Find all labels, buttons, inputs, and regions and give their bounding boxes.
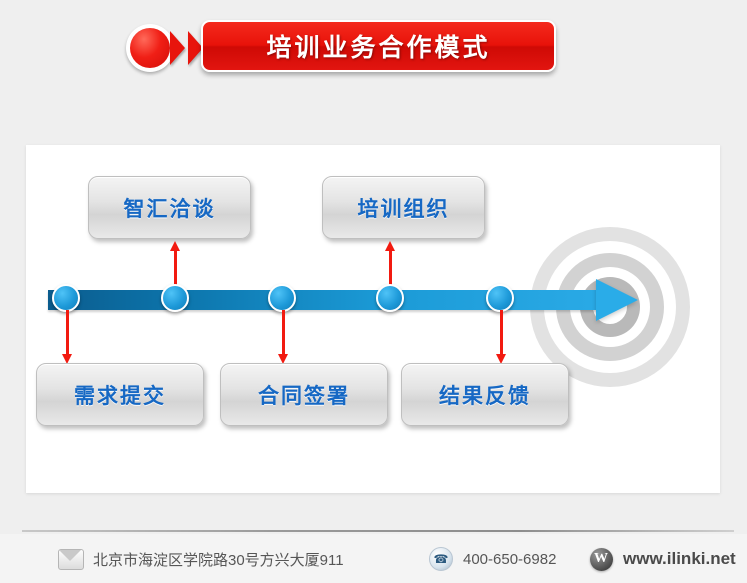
- timeline-node-1[interactable]: [52, 284, 80, 312]
- timeline-node-2[interactable]: [161, 284, 189, 312]
- footer-address-text: 北京市海淀区学院路30号方兴大厦911: [93, 549, 344, 570]
- page-title: 培训业务合作模式: [266, 28, 490, 64]
- slide-title-banner: 培训业务合作模式: [0, 0, 747, 100]
- footer-website-text: www.ilinki.net: [623, 549, 736, 569]
- title-plate: 培训业务合作模式: [201, 20, 556, 72]
- stage-box-top-2[interactable]: 培训组织: [322, 176, 485, 239]
- footer-bar: 北京市海淀区学院路30号方兴大厦911 ☎ 400-650-6982 W www…: [0, 534, 747, 583]
- connector-arrow-down-1: [66, 310, 69, 355]
- globe-icon-glyph: W: [590, 548, 613, 571]
- stage-label: 结果反馈: [439, 380, 531, 410]
- content-panel: 智汇洽谈 培训组织 需求提交 合同签署 结果反馈: [26, 145, 720, 493]
- timeline-node-4[interactable]: [376, 284, 404, 312]
- timeline-node-3[interactable]: [268, 284, 296, 312]
- stage-label: 需求提交: [74, 380, 166, 410]
- connector-arrow-down-3: [500, 310, 503, 355]
- process-timeline: [48, 288, 638, 312]
- envelope-icon: [58, 546, 84, 572]
- footer-phone: ☎ 400-650-6982: [428, 546, 556, 572]
- red-circle-icon: [126, 24, 174, 72]
- stage-box-bottom-1[interactable]: 需求提交: [36, 363, 204, 426]
- chevron-right-icon: [170, 31, 185, 65]
- phone-icon: ☎: [428, 546, 454, 572]
- footer-website[interactable]: W www.ilinki.net: [588, 546, 736, 572]
- globe-icon: W: [588, 546, 614, 572]
- stage-label: 智汇洽谈: [124, 193, 216, 223]
- timeline-bar: [48, 290, 603, 310]
- stage-box-bottom-2[interactable]: 合同签署: [220, 363, 388, 426]
- footer-divider: [22, 530, 734, 532]
- stage-box-bottom-3[interactable]: 结果反馈: [401, 363, 569, 426]
- stage-box-top-1[interactable]: 智汇洽谈: [88, 176, 251, 239]
- connector-arrow-down-2: [282, 310, 285, 355]
- stage-label: 合同签署: [258, 380, 350, 410]
- right-arrow-icon: [596, 279, 638, 321]
- timeline-node-5[interactable]: [486, 284, 514, 312]
- stage-label: 培训组织: [358, 193, 450, 223]
- footer-phone-text: 400-650-6982: [463, 551, 556, 568]
- footer-address: 北京市海淀区学院路30号方兴大厦911: [58, 546, 344, 572]
